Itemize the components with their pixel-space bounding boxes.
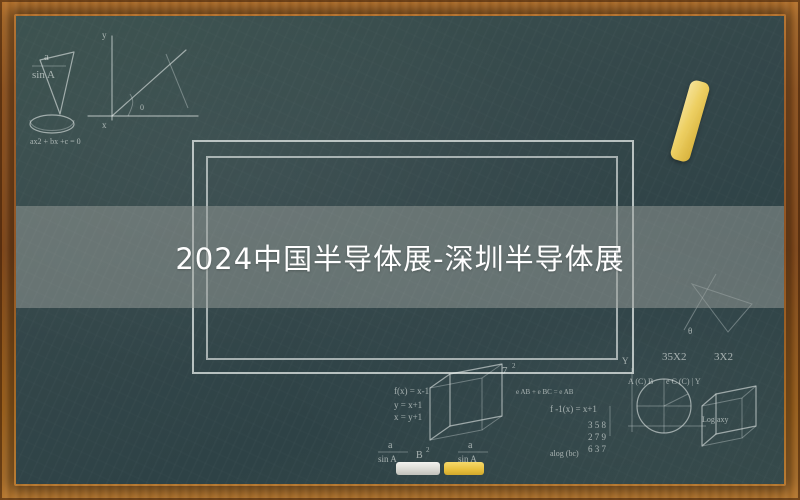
chalk-text-35x2: 35X2 bbox=[662, 351, 686, 363]
chalk-text-quadratic: ax2 + bx +c = 0 bbox=[30, 137, 81, 146]
chalk-text-digits-3: 6 3 7 bbox=[588, 444, 607, 454]
chalk-text-digits-2: 2 7 9 bbox=[588, 432, 607, 442]
chalk-text-log: alog (bc) bbox=[550, 449, 579, 458]
chalk-text-angle-0: 0 bbox=[140, 103, 144, 112]
chalk-text-set: e AB + e BC = e AB bbox=[516, 388, 574, 396]
chalk-stick-yellow bbox=[444, 462, 484, 475]
chalk-text-fx1: f(x) = x-1 bbox=[394, 386, 429, 396]
chalk-text-axis-y: y bbox=[102, 30, 107, 40]
chalk-doodle-bottom-left bbox=[430, 364, 502, 440]
chalk-stick-white bbox=[396, 462, 440, 475]
chalk-text-digits-1: 3 5 8 bbox=[588, 420, 607, 430]
chalk-text-expr2: e C (C) | Y bbox=[666, 377, 701, 386]
chalk-text-3x2: 3X2 bbox=[714, 351, 733, 363]
chalk-stick-large bbox=[669, 79, 711, 163]
chalkboard-banner-image: a sin A ax2 + bx +c = 0 y x 0 f(x) = x-1… bbox=[0, 0, 800, 500]
chalk-text-expr1: A (C) B bbox=[628, 377, 653, 386]
chalk-text-a: a bbox=[44, 51, 49, 63]
chalk-text-sin-a: sin A bbox=[32, 69, 55, 81]
chalk-text-inverse: f -1(x) = x+1 bbox=[550, 404, 597, 414]
chalk-text-frac-sina: sin A bbox=[378, 454, 397, 464]
chalk-text-fx3: x = y+1 bbox=[394, 412, 422, 422]
chalk-text-frac-a: a bbox=[388, 440, 393, 451]
banner-title-text: 2024中国半导体展-深圳半导体展 bbox=[175, 236, 624, 278]
chalk-text-b-sup: 2 bbox=[426, 446, 430, 454]
chalk-text-log-axy: Log axy bbox=[702, 415, 728, 424]
chalk-doodle-top-left bbox=[30, 36, 198, 133]
chalkboard-surface: a sin A ax2 + bx +c = 0 y x 0 f(x) = x-1… bbox=[16, 16, 784, 484]
chalk-text-axis-x: x bbox=[102, 120, 107, 130]
chalk-text-frac-a2: a bbox=[468, 440, 473, 451]
title-banner: 2024中国半导体展-深圳半导体展 bbox=[16, 206, 784, 308]
chalk-text-b-pow: B bbox=[416, 450, 423, 461]
chalk-text-fx2: y = x+1 bbox=[394, 400, 422, 410]
chalk-text-theta: θ bbox=[688, 326, 692, 336]
